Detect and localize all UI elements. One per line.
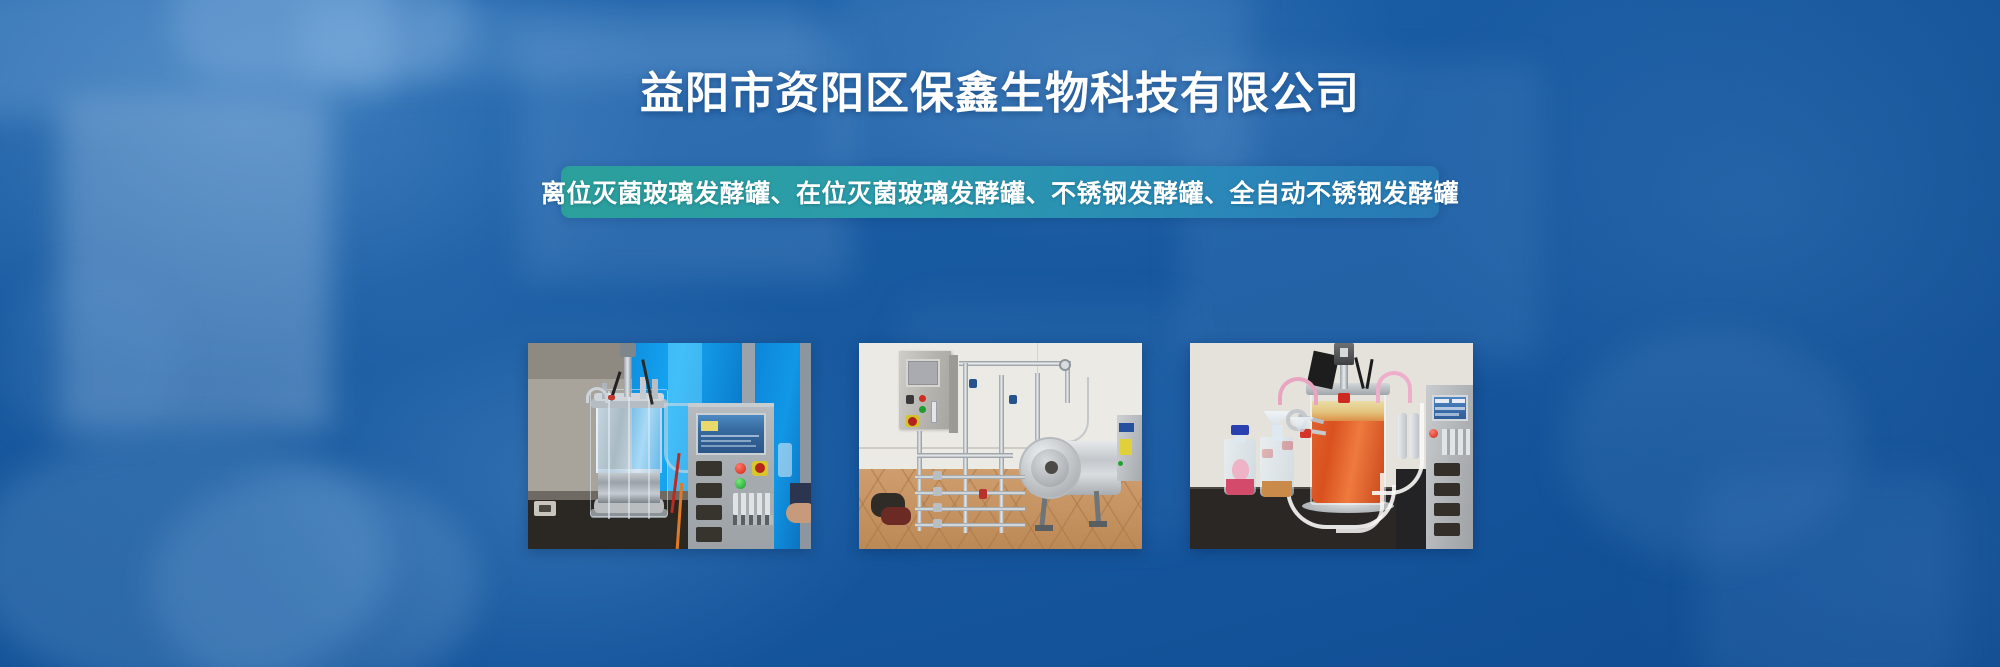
vessel-port (640, 377, 646, 399)
green-indicator-lamp (1118, 461, 1123, 466)
red-indicator-lamp (919, 395, 926, 402)
rotameter-bank (733, 493, 773, 515)
control-cabinet-side (949, 355, 958, 433)
panel-socket (696, 505, 722, 520)
blue-label-plate (1119, 423, 1134, 432)
glass-bottle (778, 443, 792, 477)
cage-bar (628, 391, 630, 519)
motor-label (1340, 348, 1348, 357)
screen-highlight-field (701, 421, 718, 431)
red-indicator-lamp (735, 463, 746, 474)
agitator-motor (620, 343, 636, 357)
reagent-bottle-liquid (1226, 479, 1254, 495)
vessel-foot (1035, 525, 1053, 531)
red-valve-handle (979, 489, 987, 499)
screen-text-line (1452, 399, 1465, 403)
screen-text-line (701, 435, 759, 437)
vessel-port (652, 379, 658, 399)
red-tube-clamp (1338, 393, 1350, 403)
wall-socket (534, 501, 556, 516)
screen-text-line (1435, 407, 1465, 410)
vertical-pipe (917, 431, 922, 531)
media-flask-liquid (1262, 481, 1292, 497)
green-indicator-lamp (919, 406, 926, 413)
white-silicone-tube (1336, 473, 1384, 533)
pipe-rack-rail (915, 491, 1025, 495)
panel-socket (696, 527, 722, 542)
pipe-rack-rail (915, 523, 1025, 527)
red-connector (608, 395, 615, 400)
product-subtitle-text: 离位灭菌玻璃发酵罐、在位灭菌玻璃发酵罐、不锈钢发酵罐、全自动不锈钢发酵罐 (541, 174, 1459, 210)
product-gallery (0, 343, 2000, 549)
blue-valve-handle (1009, 395, 1017, 404)
pink-silicone-tube (1376, 371, 1412, 403)
flexible-hose (1055, 377, 1089, 443)
emergency-stop-button (906, 415, 919, 427)
reagent-bottle-blue-cap (1231, 425, 1249, 435)
panel-socket (1434, 483, 1460, 496)
emergency-stop-button (752, 461, 768, 476)
sampling-hose (586, 387, 608, 403)
product-photo-glass-fermenter-with-controller[interactable] (528, 343, 811, 549)
floor-debris (881, 507, 911, 525)
screen-text-line (1435, 413, 1459, 416)
panel-socket (1434, 463, 1460, 476)
hero-banner: 益阳市资阳区保鑫生物科技有限公司 离位灭菌玻璃发酵罐、在位灭菌玻璃发酵罐、不锈钢… (0, 0, 2000, 667)
panel-socket (1434, 523, 1460, 536)
screen-text-line (701, 445, 756, 447)
rack-valve (933, 503, 942, 512)
rack-valve (933, 487, 942, 496)
screen-text-line (701, 440, 751, 442)
cage-bar (648, 391, 650, 519)
panel-socket (696, 461, 722, 476)
company-title: 益阳市资阳区保鑫生物科技有限公司 (0, 68, 2000, 121)
control-knob-row (733, 515, 773, 525)
sight-glass (931, 401, 937, 423)
pipe-rack-rail (915, 507, 1025, 511)
yellow-label-plate (1120, 439, 1132, 455)
header-pipe (959, 361, 1071, 366)
blue-valve-handle (969, 379, 977, 388)
panel-socket (696, 483, 722, 498)
reagent-bottle-pink-content (1232, 459, 1249, 481)
red-indicator-lamp (1429, 429, 1438, 438)
product-photo-horizontal-sterilizer-skid[interactable] (859, 343, 1142, 549)
panel-socket (1434, 503, 1460, 516)
cage-bar (608, 391, 610, 519)
green-indicator-lamp (735, 478, 746, 489)
rack-valve (933, 519, 942, 528)
hmi-screen (909, 362, 937, 384)
pressure-gauge (1059, 359, 1071, 371)
pipe-rack-rail (915, 475, 1025, 479)
sterilizer-door-handle (1045, 461, 1058, 474)
media-flask-neck (1272, 425, 1283, 441)
operator-hand (786, 503, 811, 523)
rack-valve (933, 471, 942, 480)
rotameter-bank (1442, 429, 1470, 455)
product-subtitle-banner: 离位灭菌玻璃发酵罐、在位灭菌玻璃发酵罐、不锈钢发酵罐、全自动不锈钢发酵罐 (561, 166, 1439, 218)
screen-text-line (1435, 399, 1449, 403)
product-photo-bioreactor-with-culture-broth[interactable] (1190, 343, 1473, 549)
vessel-foot (1089, 521, 1107, 527)
horizontal-pipe (917, 453, 1013, 458)
selector-switch (906, 395, 914, 404)
